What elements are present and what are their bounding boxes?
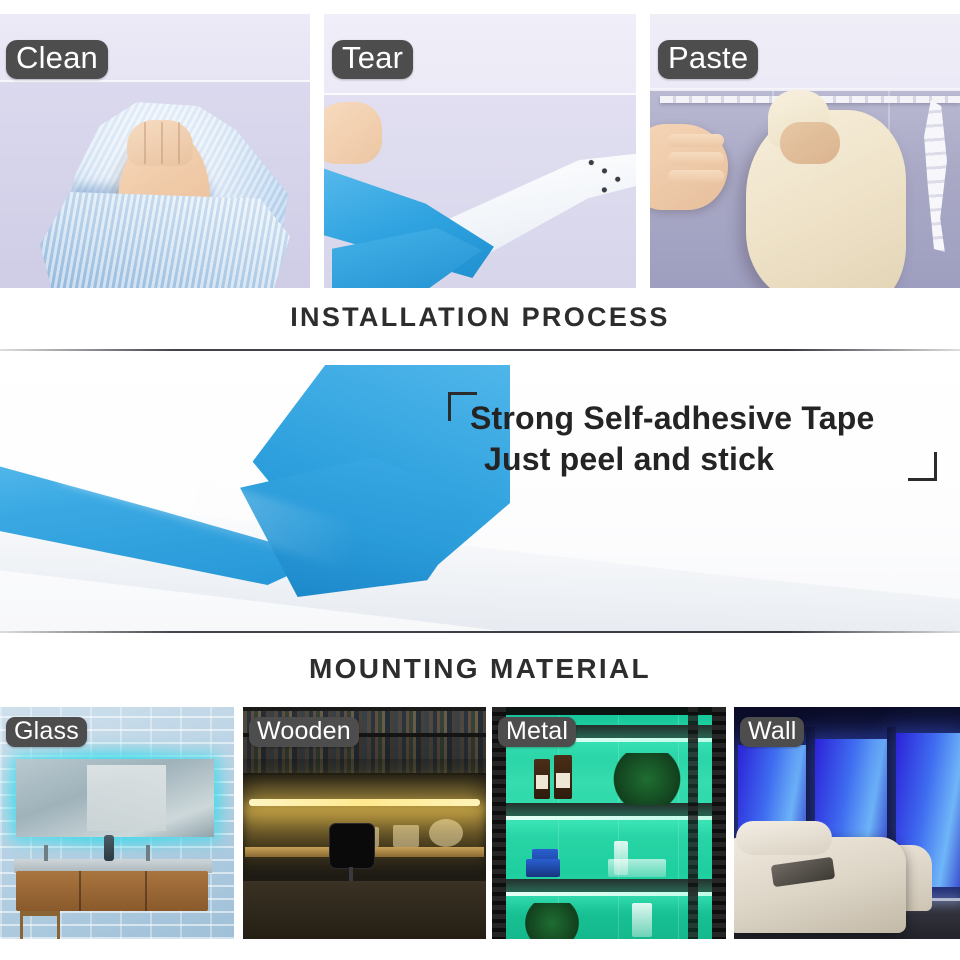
stool-shape [20, 911, 60, 939]
faucet-right [146, 845, 150, 861]
installation-heading-band: INSTALLATION PROCESS [0, 288, 960, 350]
installation-heading: INSTALLATION PROCESS [0, 302, 960, 333]
hero-line-1: Strong Self-adhesive Tape [470, 398, 938, 439]
material-label-wall: Wall [740, 717, 804, 747]
hero-tape-photo [0, 351, 960, 631]
sofa-front-shape [734, 837, 906, 933]
floor-shape [243, 881, 486, 939]
mounting-heading-band: MOUNTING MATERIAL [0, 633, 960, 707]
install-step-photo-clean: Clean [0, 14, 310, 288]
towel-front-shape [40, 192, 290, 288]
plant-bottom [520, 903, 584, 939]
led-strip-warm [249, 799, 480, 806]
material-label-metal: Metal [498, 717, 576, 747]
material-photo-glass: Glass [0, 707, 234, 939]
step-label-paste: Paste [658, 40, 758, 79]
step-label-tear: Tear [332, 40, 413, 79]
hanging-plant-top [608, 753, 686, 805]
material-photo-wooden: Wooden [243, 707, 486, 939]
storage-tray [608, 859, 666, 877]
book-row-bottom [243, 759, 486, 773]
vanity-cabinet-shape [16, 871, 208, 911]
rack-post-right [712, 707, 726, 939]
material-label-wooden: Wooden [249, 717, 359, 747]
mirror-shape [16, 759, 214, 837]
rack-post-inner [688, 707, 698, 939]
hero-line-2: Just peel and stick [484, 439, 938, 480]
mounting-photo-row: Glass Wooden [0, 707, 960, 939]
right-hand-icon [746, 110, 906, 288]
material-label-glass: Glass [6, 717, 87, 747]
desk-item-bowl [429, 819, 463, 847]
faucet-left [44, 845, 48, 861]
soap-bottle-shape [104, 835, 114, 861]
mounting-heading: MOUNTING MATERIAL [0, 653, 960, 685]
desk-item-lamp [393, 825, 419, 847]
hero-text-block: Strong Self-adhesive Tape Just peel and … [470, 398, 938, 480]
install-step-photo-paste: Paste [650, 14, 960, 288]
clear-jar-bottom [632, 903, 652, 937]
brown-bottle-2 [554, 755, 572, 799]
blue-box-2 [526, 859, 560, 877]
step-label-clean: Clean [6, 40, 108, 79]
brown-bottle-1 [534, 759, 550, 799]
thumb-shape [324, 102, 382, 164]
material-photo-metal: Metal [492, 707, 726, 939]
install-step-photo-tear: Tear [324, 14, 636, 288]
installation-photo-row: Clean Tear Paste [0, 0, 960, 288]
left-hand-icon [650, 124, 728, 210]
product-infographic: Clean Tear Paste INSTALLATION PROCESS [0, 0, 960, 960]
material-photo-wall: Wall [734, 707, 960, 939]
